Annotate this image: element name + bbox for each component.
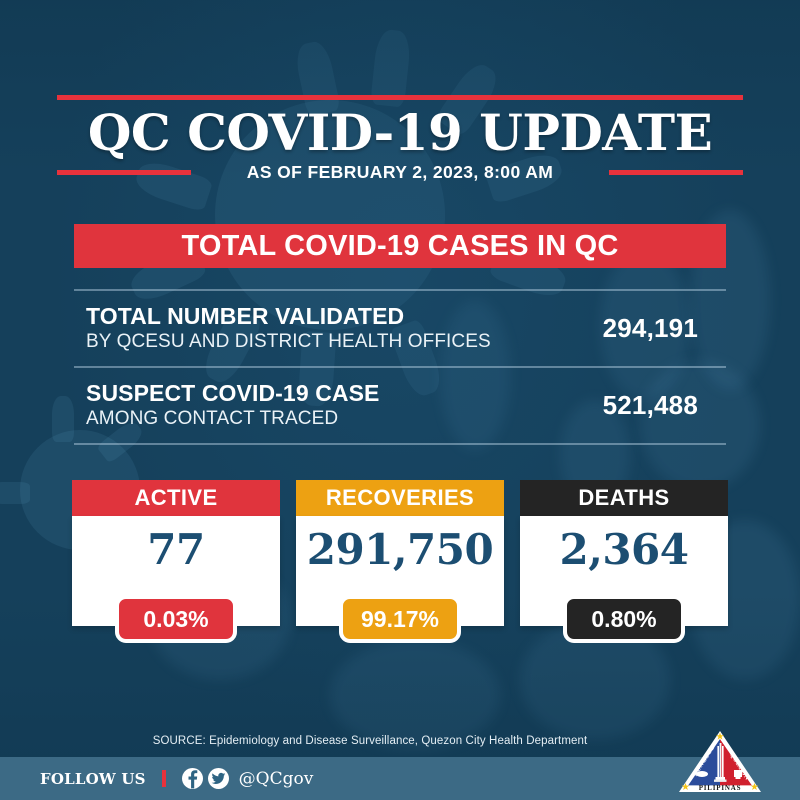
divider-line bbox=[74, 443, 726, 445]
twitter-icon[interactable] bbox=[208, 768, 229, 789]
total-row-suspect: SUSPECT COVID-19 CASE AMONG CONTACT TRAC… bbox=[86, 368, 726, 443]
crowd-watermark bbox=[330, 640, 500, 750]
header-rule-right bbox=[609, 170, 743, 175]
stat-card-percent-badge: 99.17% bbox=[339, 595, 461, 643]
follow-us-separator bbox=[162, 770, 166, 787]
total-row-subtitle: AMONG CONTACT TRACED bbox=[86, 407, 380, 431]
stat-card-label: ACTIVE bbox=[134, 485, 217, 511]
stat-card-percent-label: 99.17% bbox=[361, 606, 439, 633]
stat-card-label: DEATHS bbox=[578, 485, 669, 511]
total-row-title: TOTAL NUMBER VALIDATED bbox=[86, 303, 491, 329]
stat-card-recoveries: RECOVERIES 291,750 99.17% bbox=[296, 480, 504, 655]
stat-card-label: RECOVERIES bbox=[326, 485, 474, 511]
total-row-value: 294,191 bbox=[603, 313, 726, 344]
total-row-validated: TOTAL NUMBER VALIDATED BY QCESU AND DIST… bbox=[86, 291, 726, 366]
stat-card-value: 77 bbox=[147, 524, 204, 576]
stat-card-header: ACTIVE bbox=[72, 480, 280, 516]
stat-card-value: 291,750 bbox=[307, 524, 493, 576]
total-cases-banner: TOTAL COVID-19 CASES IN QC bbox=[74, 224, 726, 268]
follow-us-label: FOLLOW US bbox=[40, 770, 146, 788]
header-rule-top bbox=[57, 95, 743, 100]
stat-card-percent-label: 0.80% bbox=[591, 606, 656, 633]
stat-card-active: ACTIVE 77 0.03% bbox=[72, 480, 280, 655]
seal-text-bottom: PILIPINAS bbox=[699, 784, 742, 792]
stat-card-percent-badge: 0.80% bbox=[563, 595, 685, 643]
social-handle[interactable]: @QCgov bbox=[239, 769, 314, 789]
stat-card-value: 2,364 bbox=[559, 524, 688, 576]
virus-spike-icon bbox=[52, 396, 74, 442]
facebook-icon[interactable] bbox=[182, 768, 203, 789]
total-row-title: SUSPECT COVID-19 CASE bbox=[86, 380, 380, 406]
stat-card-percent-badge: 0.03% bbox=[115, 595, 237, 643]
page-title: QC COVID-19 UPDATE bbox=[0, 104, 800, 162]
total-row-text: TOTAL NUMBER VALIDATED BY QCESU AND DIST… bbox=[86, 303, 491, 354]
quezon-city-seal: LUNGSOD QUEZON PILIPINAS bbox=[676, 729, 764, 795]
stat-card-header: RECOVERIES bbox=[296, 480, 504, 516]
infographic-poster: QC COVID-19 UPDATE AS OF FEBRUARY 2, 202… bbox=[0, 0, 800, 800]
stat-card-header: DEATHS bbox=[520, 480, 728, 516]
total-row-text: SUSPECT COVID-19 CASE AMONG CONTACT TRAC… bbox=[86, 380, 380, 431]
virus-spike-icon bbox=[0, 482, 30, 504]
stat-card-group: ACTIVE 77 0.03% RECOVERIES 291,750 99.17… bbox=[72, 480, 728, 655]
stat-card-percent-label: 0.03% bbox=[143, 606, 208, 633]
total-row-subtitle: BY QCESU AND DISTRICT HEALTH OFFICES bbox=[86, 330, 491, 354]
stat-card-deaths: DEATHS 2,364 0.80% bbox=[520, 480, 728, 655]
total-cases-banner-label: TOTAL COVID-19 CASES IN QC bbox=[181, 230, 618, 263]
total-row-value: 521,488 bbox=[603, 390, 726, 421]
